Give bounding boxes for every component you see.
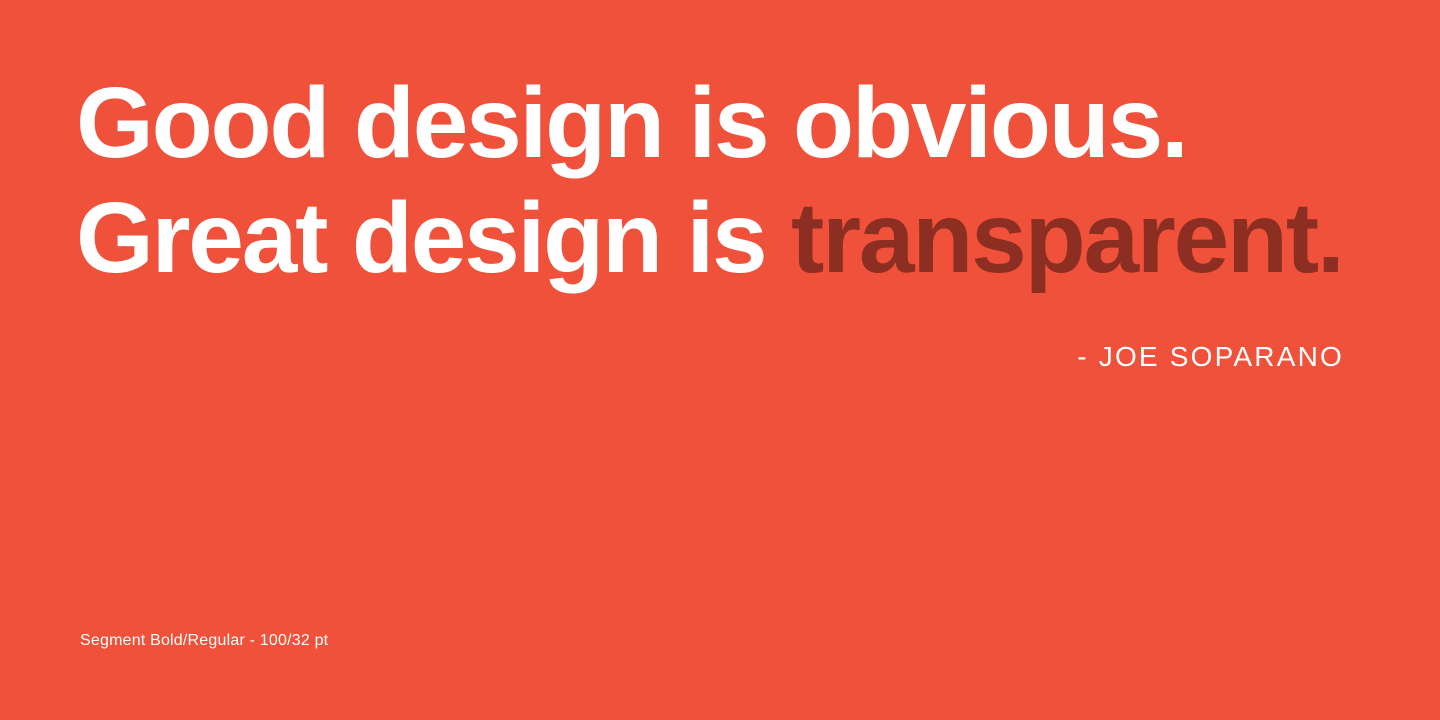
headline-line-2: Great design is transparent. <box>76 181 1376 296</box>
headline-quote: Good design is obvious. Great design is … <box>76 66 1376 296</box>
quote-slide: Good design is obvious. Great design is … <box>0 0 1440 720</box>
quote-attribution: - JOE SOPARANO <box>0 341 1344 373</box>
headline-line-1: Good design is obvious. <box>76 66 1376 181</box>
headline-line-2-plain: Great design is <box>76 182 791 294</box>
headline-accent-word: transparent. <box>791 182 1343 294</box>
type-spec-caption: Segment Bold/Regular - 100/32 pt <box>80 632 328 650</box>
